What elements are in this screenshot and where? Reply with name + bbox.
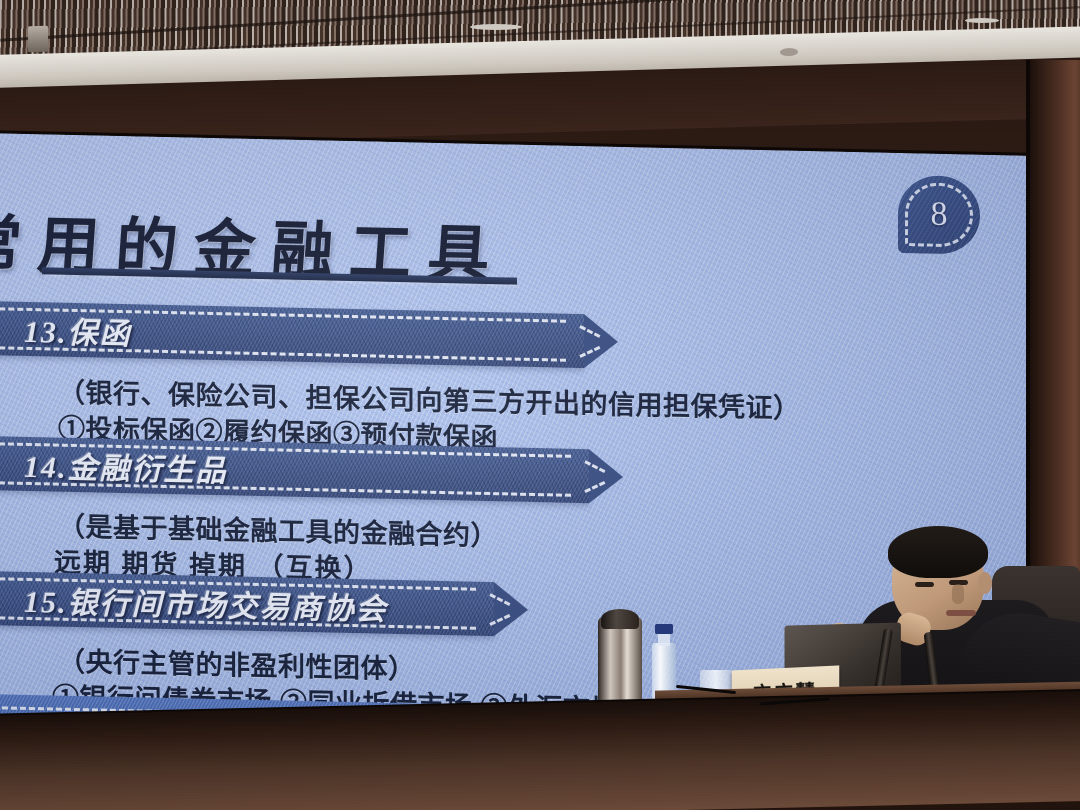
ceiling-projector <box>28 26 48 53</box>
presenter-eye-left <box>915 582 934 587</box>
banner-arrow-tip-14 <box>589 449 623 504</box>
page-number-badge: 8 <box>898 175 980 255</box>
ceiling-light-strip <box>470 24 522 30</box>
ceiling-light-strip-2 <box>965 18 999 23</box>
banner-arrow-tip-13 <box>584 314 618 369</box>
presenter-ear <box>978 572 992 594</box>
thermos-cap <box>601 609 639 629</box>
water-bottle-cap <box>655 624 673 634</box>
section-banner-label-13: 13.保函 <box>0 305 132 353</box>
presenter-nose <box>952 584 964 604</box>
section-banner-15: 15.银行间市场交易商协会 <box>0 570 494 636</box>
screenshot-root: 8 常用的金融工具 13.保函 （银行、保险公司、担保公司向第三方开出的信用担保… <box>0 0 1080 810</box>
presenter-mouth <box>946 610 976 616</box>
presenter-hair <box>888 526 988 578</box>
banner-arrow-tip-15 <box>494 582 528 637</box>
page-number-text: 8 <box>931 196 948 234</box>
ceiling-smoke-detector <box>780 48 798 56</box>
section-banner-label-15: 15.银行间市场交易商协会 <box>0 575 388 628</box>
section-banner-label-14: 14.金融衍生品 <box>0 440 228 490</box>
